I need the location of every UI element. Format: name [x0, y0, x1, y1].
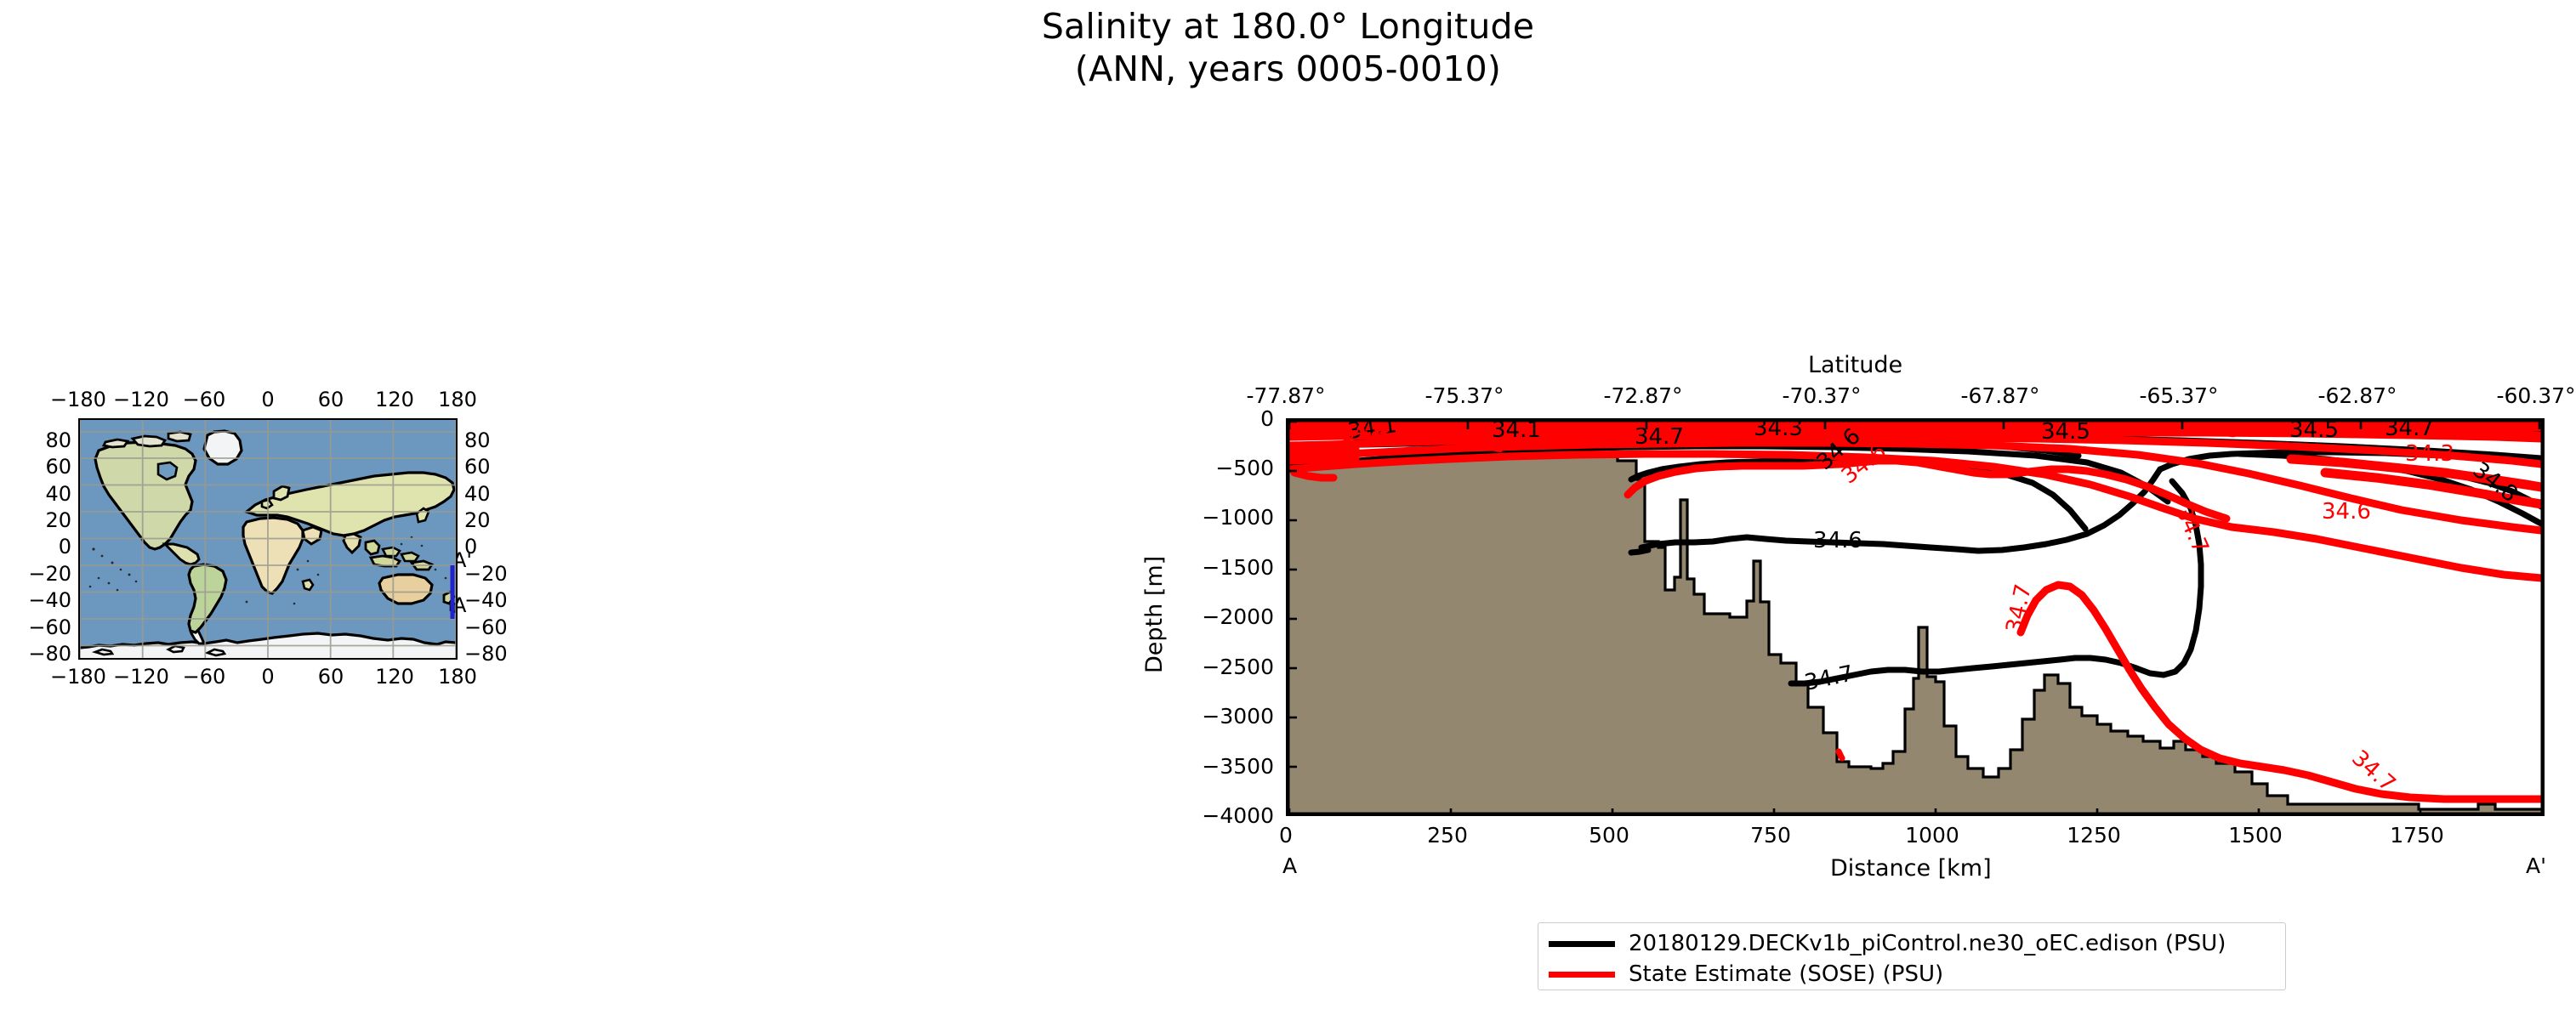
title-line-2: (ANN, years 0005-0010) — [0, 48, 2576, 90]
dist-tick-7: 1750 — [2366, 823, 2468, 848]
lat-tick-7: -60.37° — [2481, 383, 2576, 408]
map-lat-tick-right-8: −80 — [464, 642, 514, 666]
distance-axis-label: Distance [km] — [1830, 855, 1992, 882]
transect-end-marker: A' — [2526, 853, 2546, 878]
lat-tick-1: -75.37° — [1409, 383, 1520, 408]
dist-tick-6: 1500 — [2204, 823, 2306, 848]
contour-label-red-4: 34.3 — [1985, 420, 2034, 445]
world-map-panel: −180 −120 −60 0 60 120 180 −180 −120 −60… — [78, 418, 458, 660]
australia — [379, 575, 432, 604]
contour-label-black-2: 34.1 — [1492, 420, 1541, 443]
map-lat-tick-right-2: 40 — [464, 482, 514, 506]
map-lat-tick-left-2: 40 — [22, 482, 71, 506]
dist-tick-3: 750 — [1720, 823, 1822, 848]
contour-label-black-9: 34.6 — [1813, 528, 1862, 553]
depth-tick-4: −2000 — [1186, 604, 1274, 629]
legend-swatch-sose — [1549, 972, 1615, 978]
map-lon-tick-top-6: 180 — [419, 388, 496, 411]
map-lat-tick-left-3: 20 — [22, 508, 71, 532]
depth-tick-2: −1000 — [1186, 505, 1274, 530]
contour-label-black-7: 34.7 — [2385, 420, 2434, 441]
lat-tick-5: -65.37° — [2124, 383, 2234, 408]
lat-tick-6: -62.87° — [2302, 383, 2413, 408]
dist-tick-2: 500 — [1558, 823, 1660, 848]
map-lat-tick-left-8: −80 — [22, 642, 71, 666]
map-lat-tick-left-0: 80 — [22, 428, 71, 452]
page-title: Salinity at 180.0° Longitude (ANN, years… — [0, 5, 2576, 90]
map-lat-tick-right-3: 20 — [464, 508, 514, 532]
madagascar — [303, 580, 313, 590]
legend-label-sose: State Estimate (SOSE) (PSU) — [1629, 961, 1943, 987]
map-lat-tick-left-7: −60 — [22, 615, 71, 639]
map-lat-tick-left-6: −40 — [22, 588, 71, 612]
map-lon-tick-bot-6: 180 — [419, 665, 496, 689]
lat-tick-4: -67.87° — [1945, 383, 2056, 408]
depth-tick-7: −3500 — [1186, 754, 1274, 779]
depth-tick-0: 0 — [1186, 406, 1274, 431]
lat-tick-0: -77.87° — [1231, 383, 1341, 408]
contour-label-red-7: 34.6 — [2322, 499, 2371, 525]
contour-label-red-5: 34.3 — [2405, 441, 2454, 467]
legend: 20180129.DECKv1b_piControl.ne30_oEC.edis… — [1538, 922, 2286, 990]
depth-tick-6: −3000 — [1186, 704, 1274, 729]
map-lat-tick-left-4: 0 — [22, 535, 71, 559]
latitude-axis-label: Latitude — [1808, 352, 1902, 378]
dist-tick-5: 1250 — [2043, 823, 2145, 848]
contour-label-red-3: 34.1 — [2226, 420, 2276, 443]
legend-label-model: 20180129.DECKv1b_piControl.ne30_oEC.edis… — [1629, 931, 2226, 956]
contour-label-black-6: 34.5 — [2289, 420, 2339, 443]
greenland — [204, 431, 242, 464]
map-lat-tick-left-1: 60 — [22, 455, 71, 479]
legend-swatch-model — [1549, 941, 1615, 947]
depth-tick-5: −2500 — [1186, 655, 1274, 679]
contour-label-black-5: 34.5 — [2041, 420, 2090, 445]
dist-tick-0: 0 — [1235, 823, 1337, 848]
map-lat-tick-right-7: −60 — [464, 615, 514, 639]
lat-tick-2: -72.87° — [1588, 383, 1698, 408]
transect-start-marker: A — [1282, 853, 1297, 878]
salinity-contour-graphic: 34.1 34.1 34.7 34.3 34.5 34.5 34.7 34.8 … — [1288, 420, 2543, 814]
hudson-bay — [158, 462, 177, 479]
map-lat-tick-right-1: 60 — [464, 455, 514, 479]
lat-tick-3: -70.37° — [1766, 383, 1877, 408]
world-map-graphic — [80, 420, 456, 658]
title-line-1: Salinity at 180.0° Longitude — [0, 5, 2576, 48]
cross-section-axes: 34.1 34.1 34.7 34.3 34.5 34.5 34.7 34.8 … — [1286, 418, 2545, 816]
dist-tick-4: 1000 — [1881, 823, 1983, 848]
map-lat-tick-left-5: −20 — [22, 562, 71, 586]
figure-canvas: Salinity at 180.0° Longitude (ANN, years… — [0, 0, 2576, 1015]
map-lat-tick-right-6: −40 — [464, 588, 514, 612]
depth-tick-1: −500 — [1186, 456, 1274, 480]
contour-label-black-3: 34.7 — [1635, 424, 1684, 450]
dist-tick-1: 250 — [1396, 823, 1498, 848]
map-lat-tick-right-0: 80 — [464, 428, 514, 452]
cross-section-panel: Latitude -77.87° -75.37° -72.87° -70.37°… — [1286, 418, 2545, 816]
southeast-asia — [366, 541, 379, 554]
legend-entry-model: 20180129.DECKv1b_piControl.ne30_oEC.edis… — [1549, 928, 2226, 959]
contour-label-red-2: 34.1 — [1796, 421, 1845, 446]
legend-entry-sose: State Estimate (SOSE) (PSU) — [1549, 959, 1943, 989]
depth-tick-3: −1500 — [1186, 555, 1274, 580]
depth-axis-label: Depth [m] — [1141, 556, 1168, 673]
map-axes — [78, 418, 458, 660]
